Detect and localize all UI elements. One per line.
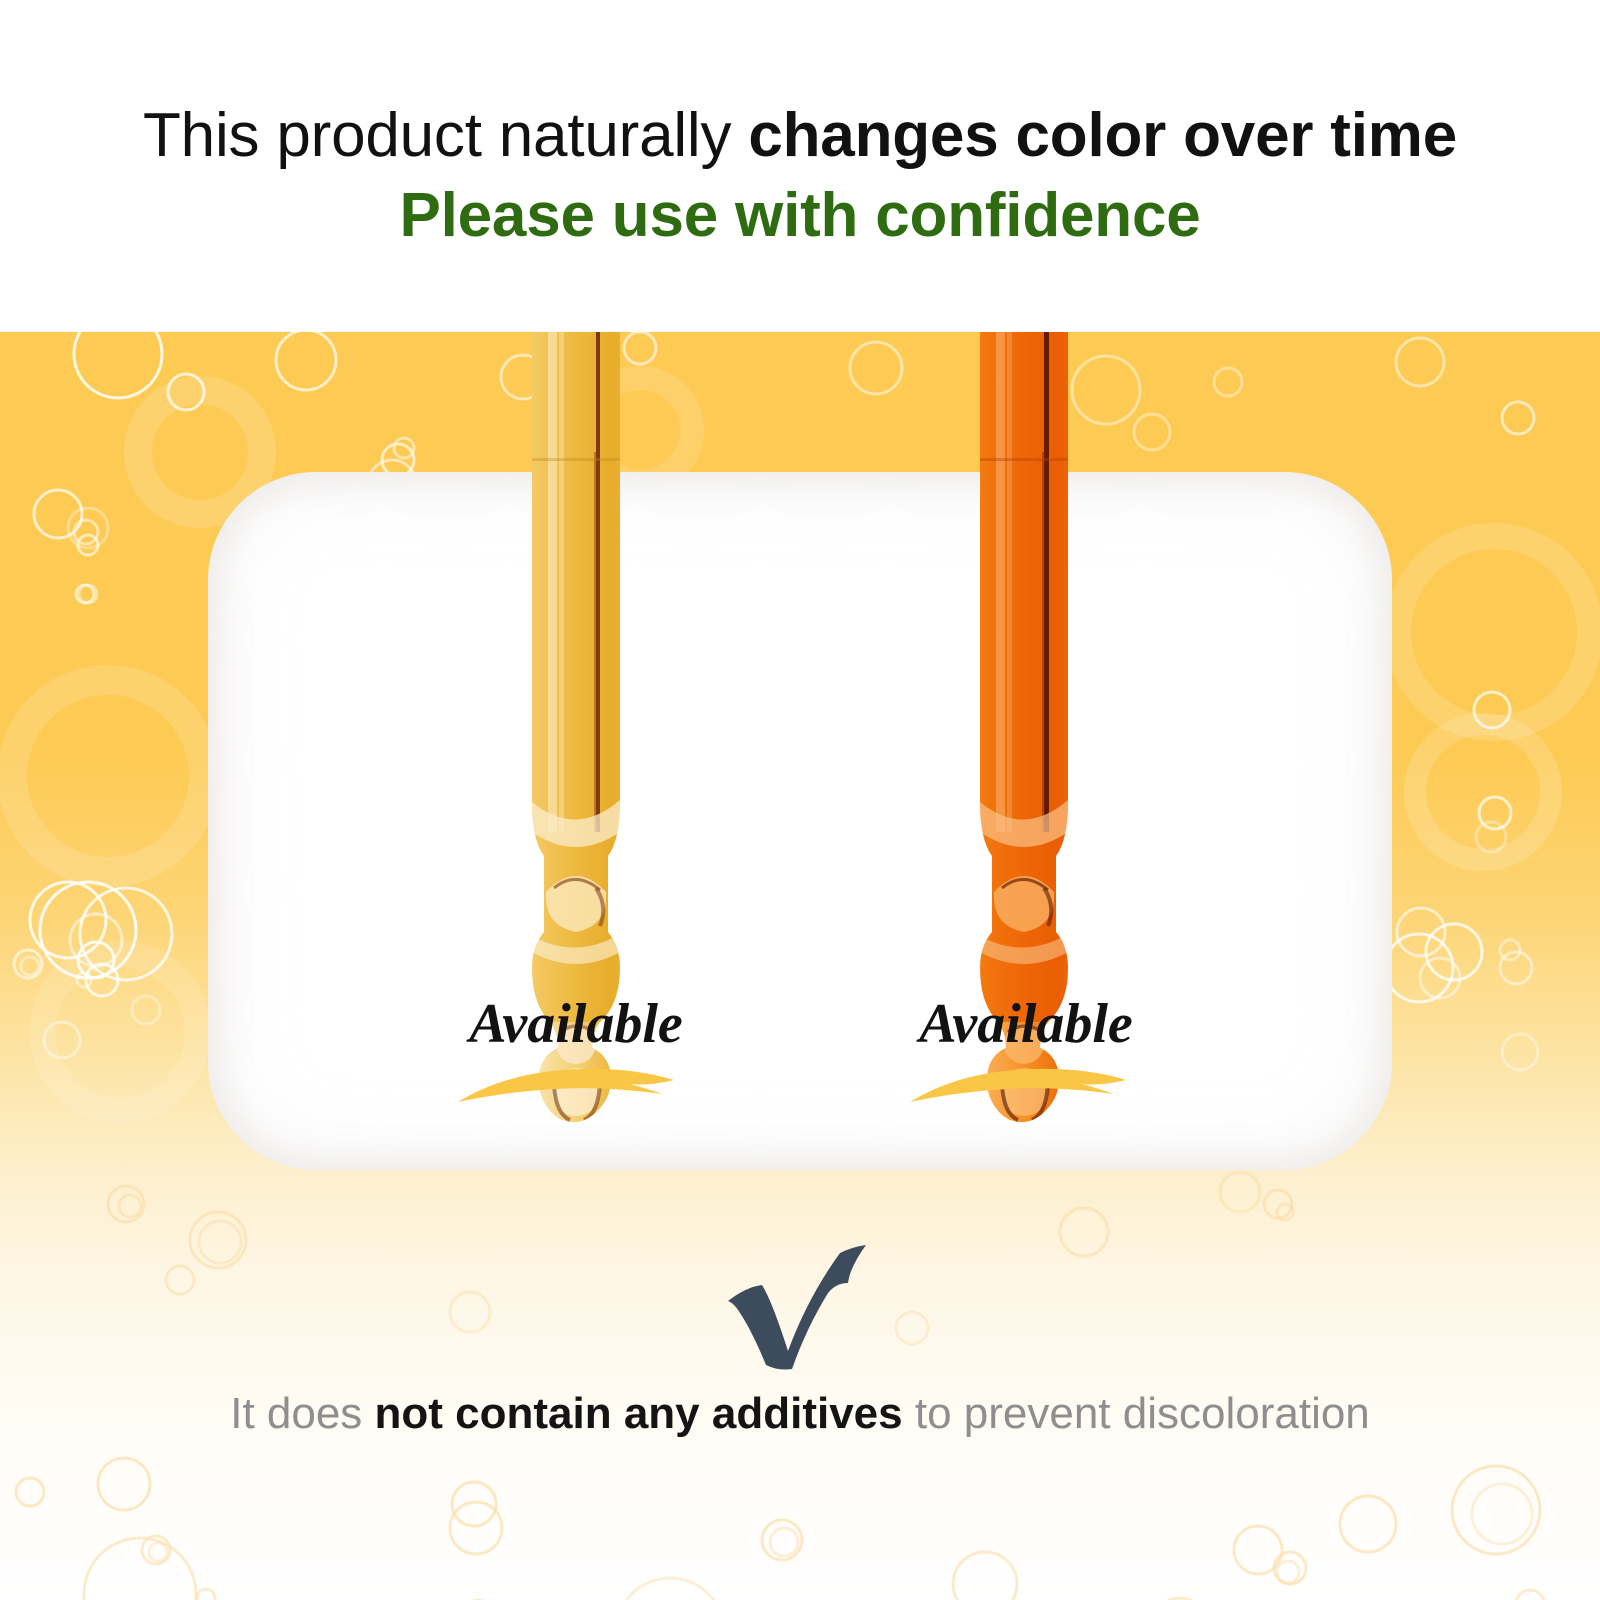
headline-light: This product naturally (143, 101, 748, 170)
footer-note: It does not contain any additives to pre… (0, 1390, 1600, 1438)
header-band: This product naturally changes color ove… (0, 0, 1600, 332)
product-comparison-card (208, 472, 1392, 1170)
sample-label-fresh: Available (366, 992, 786, 1056)
checkmark-icon (700, 1243, 900, 1371)
page-subtitle: Please use with confidence (0, 184, 1600, 247)
brush-underline-fresh (452, 1056, 684, 1114)
sample-label-aged: Available (816, 992, 1236, 1056)
footer-muted-before: It does (230, 1389, 374, 1438)
headline-strong: changes color over time (748, 101, 1457, 170)
page-title: This product naturally changes color ove… (0, 104, 1600, 167)
footer-muted-after: to prevent discoloration (903, 1389, 1370, 1438)
product-info-graphic: .bb { fill: none; stroke: #ffffff; } (0, 0, 1600, 1600)
brush-underline-aged (904, 1056, 1136, 1114)
footer-accent: not contain any additives (375, 1389, 903, 1438)
